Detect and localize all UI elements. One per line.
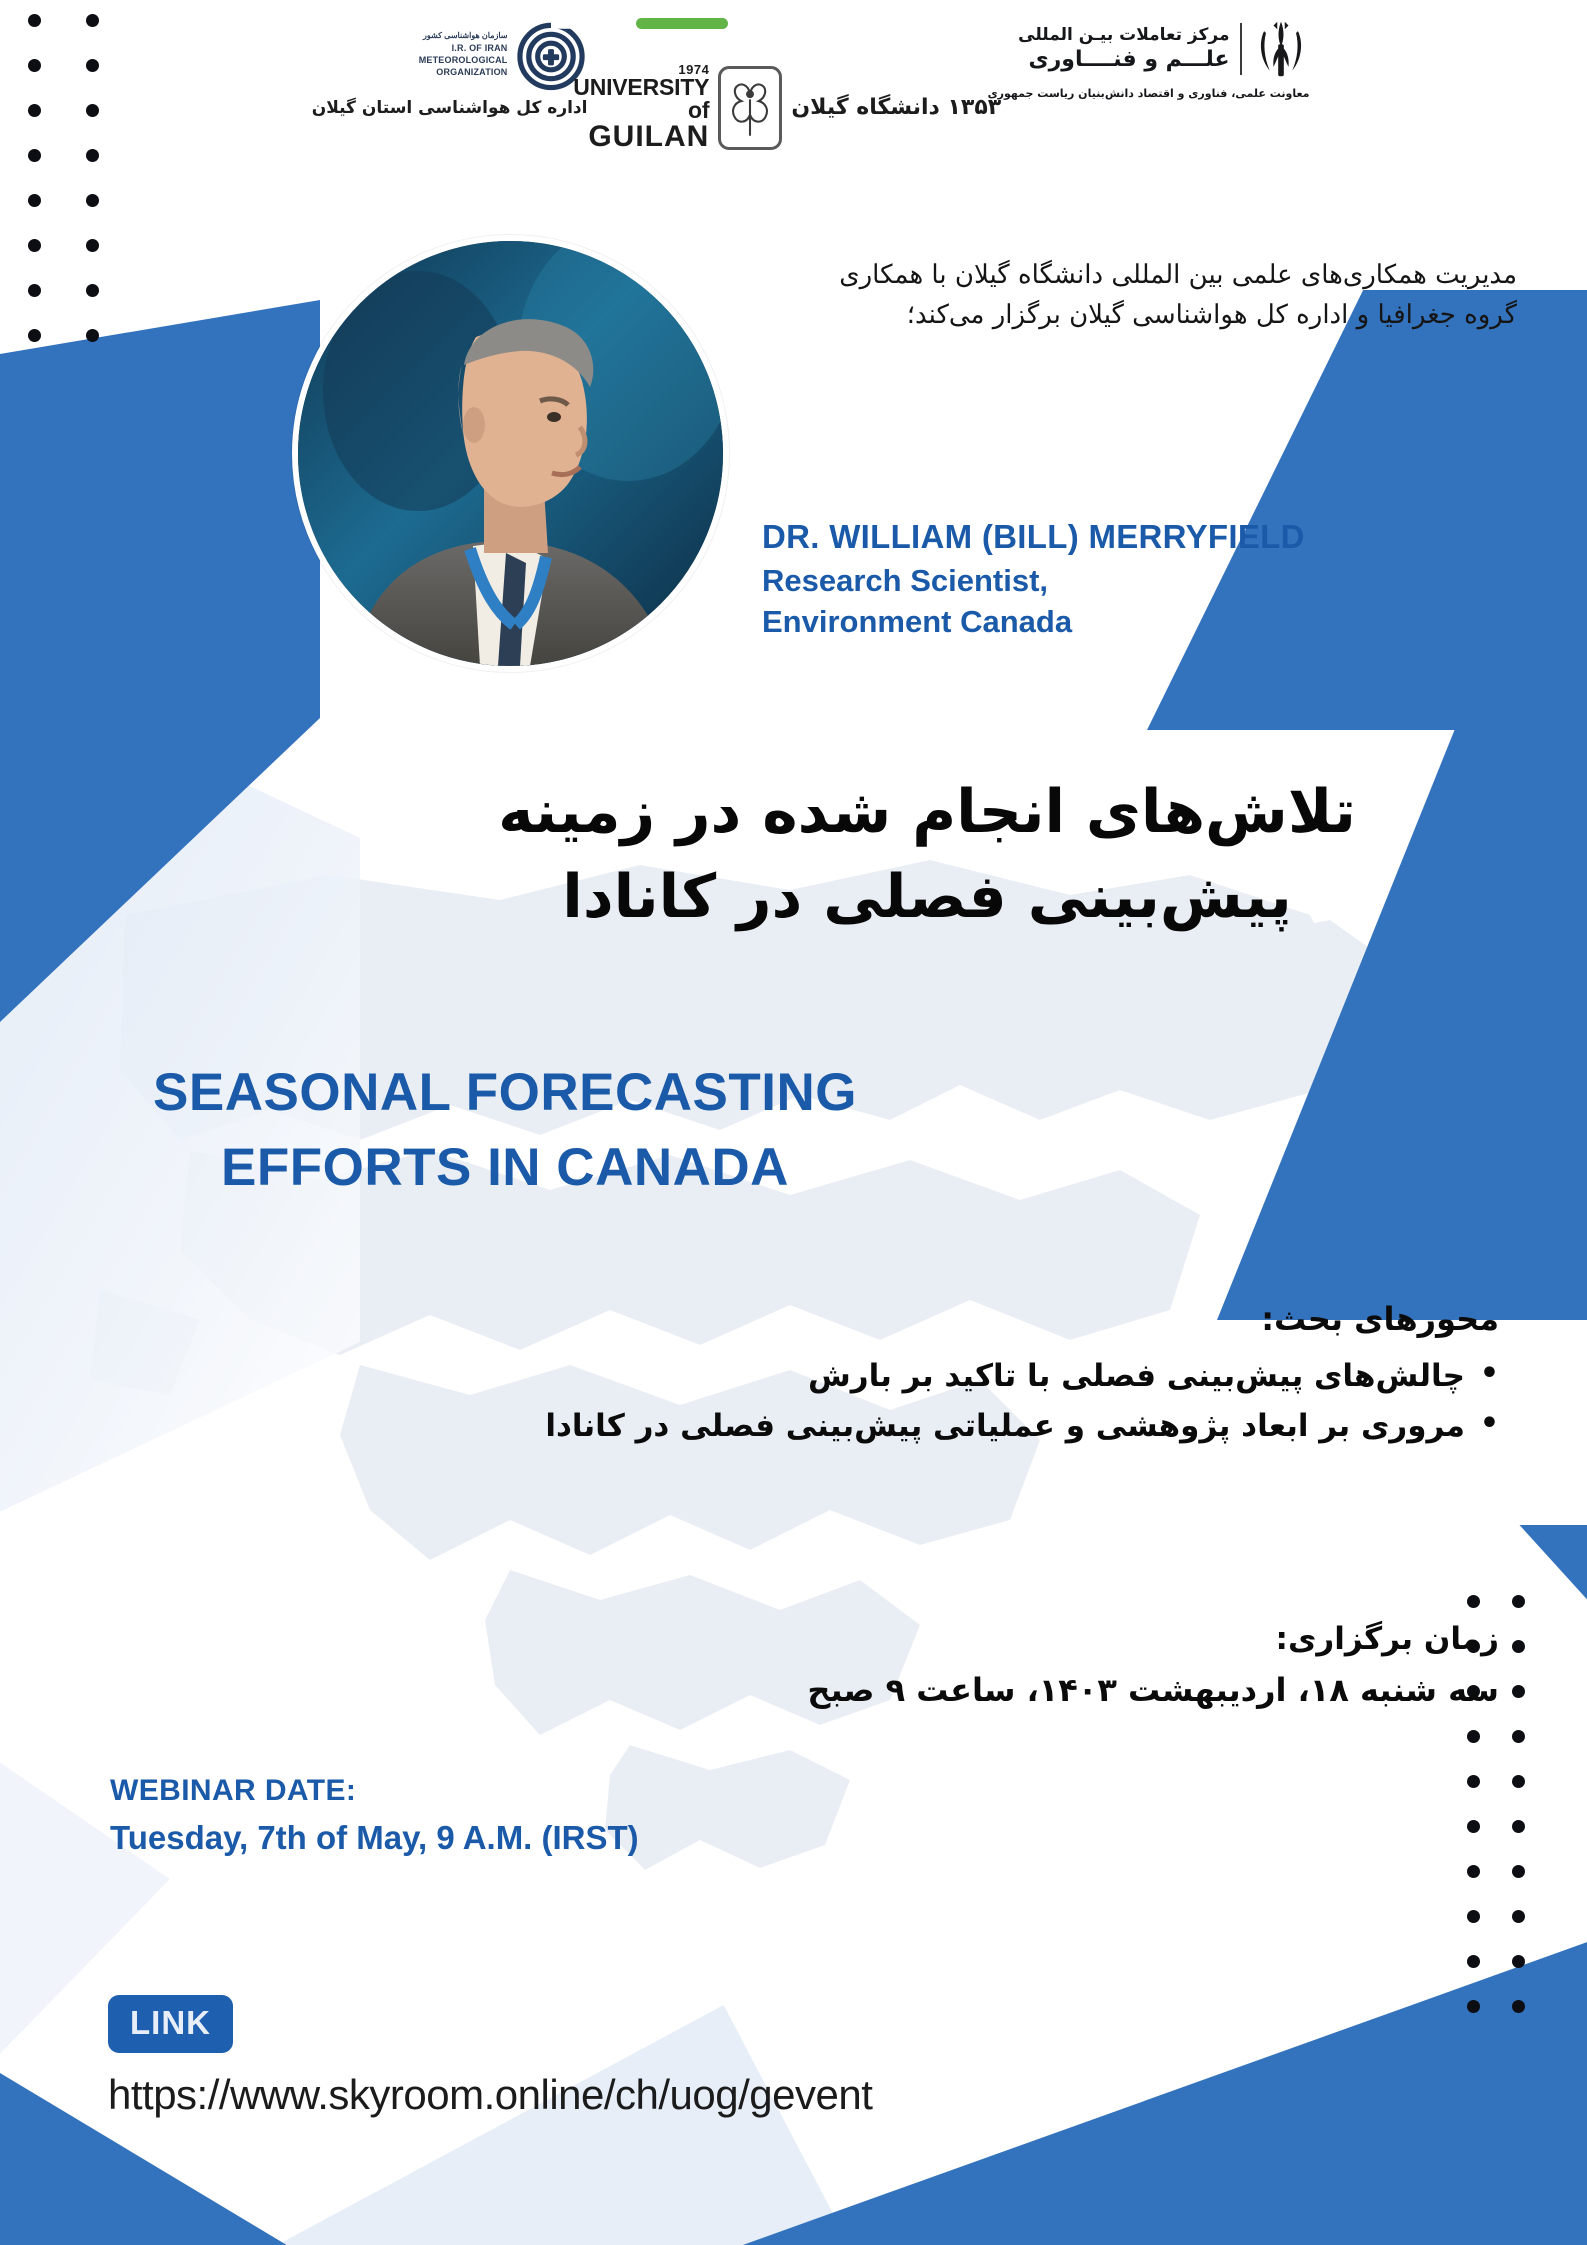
imo-fa-line: سازمان هواشناسی کشور [419,31,508,42]
speaker-details: DR. WILLIAM (BILL) MERRYFIELD Research S… [762,515,1522,643]
logo-iran-meteorological-organization: سازمان هواشناسی کشور I.R. OF IRAN METEOR… [278,18,588,118]
dot [1467,1775,1480,1788]
link-badge[interactable]: LINK [108,1995,233,2053]
divider [1240,23,1242,75]
date-en-heading: WEBINAR DATE: [110,1768,1010,1813]
dot [1512,1820,1525,1833]
dot [86,284,99,297]
speaker-role-line-1: Research Scientist, [762,560,1522,602]
dot [28,239,41,252]
dot [1512,1730,1525,1743]
dot [1467,1820,1480,1833]
topics-list: چالش‌های پیش‌بینی فصلی با تاکید بر بارش … [449,1352,1499,1451]
dot [1512,1865,1525,1878]
list-item: مروری بر ابعاد پژوهشی و عملیاتی پیش‌بینی… [449,1402,1499,1452]
dot [28,194,41,207]
date-persian: زمان برگزاری: سه شنبه ۱۸، اردیبهشت ۱۴۰۳،… [449,1615,1499,1716]
speaker-portrait [292,235,729,672]
speaker-name: DR. WILLIAM (BILL) MERRYFIELD [762,515,1522,560]
guilan-crest-icon [718,66,782,150]
dot [1512,1640,1525,1653]
dot [1512,2000,1525,2013]
date-fa-value: سه شنبه ۱۸، اردیبهشت ۱۴۰۳، ساعت ۹ صبح [449,1665,1499,1716]
dot [1512,1955,1525,1968]
title-persian: تلاش‌های انجام شده در زمینه پیش‌بینی فصل… [367,770,1487,940]
dot [1512,1595,1525,1608]
dot [1512,1685,1525,1698]
decor-right-top-blue-wedge [1147,290,1587,730]
intro-paragraph: مدیریت همکاری‌های علمی بین المللی دانشگا… [712,255,1517,336]
imo-en-line-2: METEOROLOGICAL [419,54,508,66]
speaker-role-line-2: Environment Canada [762,601,1522,643]
dot [86,329,99,342]
topics-heading: محورهای بحث: [449,1300,1499,1338]
title-fa-line-2: پیش‌بینی فصلی در کانادا [367,855,1487,940]
green-accent-bar [636,18,728,29]
dot [86,194,99,207]
logo-university-of-guilan: 1974 UNIVERSITY of GUILAN [614,18,954,152]
dot [28,284,41,297]
dot [1467,1865,1480,1878]
logo-row: سازمان هواشناسی کشور I.R. OF IRAN METEOR… [0,18,1587,188]
intro-line-2: گروه جغرافیا و اداره کل هواشناسی گیلان ب… [712,295,1517,335]
dot [1467,2000,1480,2013]
dot [1512,1910,1525,1923]
title-english: SEASONAL FORECASTING EFFORTS IN CANADA [60,1055,950,1206]
dot [1467,1730,1480,1743]
sci-line-2: علـــم و فنــــاوری [1018,46,1229,74]
dot [1467,1910,1480,1923]
list-item: چالش‌های پیش‌بینی فصلی با تاکید بر بارش [449,1352,1499,1402]
guilan-name-line-1: UNIVERSITY of [566,76,710,122]
title-en-line-2: EFFORTS IN CANADA [60,1130,950,1205]
imo-caption: اداره کل هواشناسی استان گیلان [312,98,588,118]
date-en-value: Tuesday, 7th of May, 9 A.M. (IRST) [110,1813,1010,1863]
intro-line-1: مدیریت همکاری‌های علمی بین المللی دانشگا… [712,255,1517,295]
imo-en-line-3: ORGANIZATION [419,66,508,78]
dot [86,239,99,252]
sci-caption: معاونت علمی، فناوری و اقتصاد دانش‌بنیان … [988,87,1310,100]
dot [1467,1955,1480,1968]
iran-emblem-icon [1252,18,1310,80]
imo-en-line-1: I.R. OF IRAN [419,42,508,54]
dot [28,329,41,342]
webinar-url[interactable]: https://www.skyroom.online/ch/uog/gevent [108,2071,872,2119]
dot [1467,1595,1480,1608]
title-en-line-1: SEASONAL FORECASTING [60,1055,950,1130]
guilan-name-line-2: GUILAN [566,122,710,152]
sci-line-1: مرکز تعاملات بیـن المللی [1018,25,1229,46]
dot [1512,1775,1525,1788]
title-fa-line-1: تلاش‌های انجام شده در زمینه [367,770,1487,855]
logo-science-and-technology-vp: مرکز تعاملات بیـن المللی علـــم و فنــــ… [980,18,1310,100]
guilan-name-fa: دانشگاه گیلان [791,95,939,120]
date-fa-heading: زمان برگزاری: [449,1615,1499,1665]
topics-section: محورهای بحث: چالش‌های پیش‌بینی فصلی با ت… [449,1300,1499,1451]
poster-canvas: سازمان هواشناسی کشور I.R. OF IRAN METEOR… [0,0,1587,2245]
date-english: WEBINAR DATE: Tuesday, 7th of May, 9 A.M… [110,1768,1010,1863]
link-section: LINK https://www.skyroom.online/ch/uog/g… [108,1995,872,2119]
